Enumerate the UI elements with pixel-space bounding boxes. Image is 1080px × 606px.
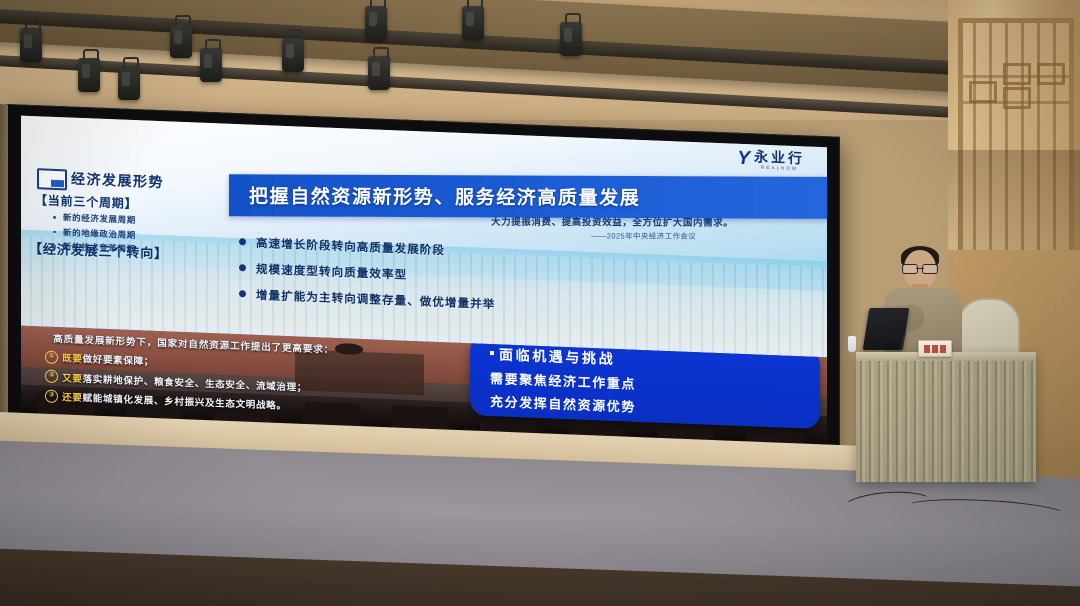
photo-numbered-list: ① 既要做好要素保障； ② 又要落实耕地保护、粮食安全、生态安全、流域治理； ③…	[45, 350, 307, 419]
list-number-badge: ②	[45, 370, 58, 384]
stage-spotlight	[462, 6, 484, 40]
list-number-badge: ①	[45, 350, 58, 364]
speaker-table	[856, 352, 1036, 482]
stage-spotlight	[78, 58, 100, 92]
list-text: 还要赋能城镇化发展、乡村振兴及生态文明战略。	[62, 390, 286, 413]
stage-spotlight	[118, 66, 140, 100]
stage-spotlight	[20, 28, 42, 62]
slide-section-title: 经济发展形势	[71, 169, 164, 193]
presenter-area	[840, 240, 1080, 570]
list-text: 既要做好要素保障；	[62, 351, 154, 369]
stage-spotlight	[282, 38, 304, 72]
stage-spotlight	[365, 6, 387, 40]
photo-podium	[295, 349, 424, 395]
list-highlight: 既要	[62, 354, 82, 366]
stage-spotlight	[368, 56, 390, 90]
list-item: 新的地缘政治周期	[53, 225, 136, 240]
group-one-title: 【当前三个周期】	[35, 191, 137, 212]
slide-marker-icon	[37, 168, 67, 190]
list-body: 做好要素保障；	[83, 354, 154, 368]
conference-hall-scene: Y 永业行 REALHOM 把握自然资源新形势、服务经济高质量发展 大力提振消费…	[0, 0, 1080, 606]
logo-chinese-name: 永业行	[754, 149, 805, 165]
stage-spotlight	[560, 22, 582, 56]
logo-mark-icon: Y	[737, 148, 748, 170]
slide-subtitle: 大力提振消费、提高投资效益，全方位扩大国内需求。	[491, 214, 821, 229]
company-logo: Y 永业行 REALHOM	[737, 148, 805, 173]
slide-title: 把握自然资源新形势、服务经济高质量发展	[249, 182, 827, 212]
screen-left-shadow	[0, 104, 8, 434]
glasses-icon	[902, 264, 938, 272]
led-screen-content: Y 永业行 REALHOM 把握自然资源新形势、服务经济高质量发展 大力提振消费…	[21, 116, 827, 448]
name-placard	[918, 340, 952, 357]
list-item: 增量扩能为主转向调整存量、做优增量并举	[239, 286, 495, 312]
stage-spotlight	[170, 24, 192, 58]
group-two-list: 高速增长阶段转向高质量发展阶段 规模速度型转向质量效率型 增量扩能为主转向调整存…	[239, 234, 495, 322]
logo-english-name: REALHOM	[754, 165, 805, 172]
slide-attribution: ——2025年中央经济工作会议	[591, 230, 827, 242]
stage-spotlight	[200, 48, 222, 82]
list-body: 赋能城镇化发展、乡村振兴及生态文明战略。	[83, 393, 287, 412]
table-skirt	[856, 361, 1036, 482]
list-number-badge: ③	[45, 389, 58, 403]
list-highlight: 还要	[62, 393, 82, 405]
list-item: 规模速度型转向质量效率型	[239, 260, 495, 286]
water-bottle	[848, 336, 856, 352]
list-highlight: 又要	[62, 373, 82, 385]
list-item: 新的经济发展周期	[53, 211, 136, 226]
list-item: ③ 还要赋能城镇化发展、乡村振兴及生态文明战略。	[45, 389, 307, 413]
led-screen-bezel: Y 永业行 REALHOM 把握自然资源新形势、服务经济高质量发展 大力提振消费…	[6, 104, 840, 459]
